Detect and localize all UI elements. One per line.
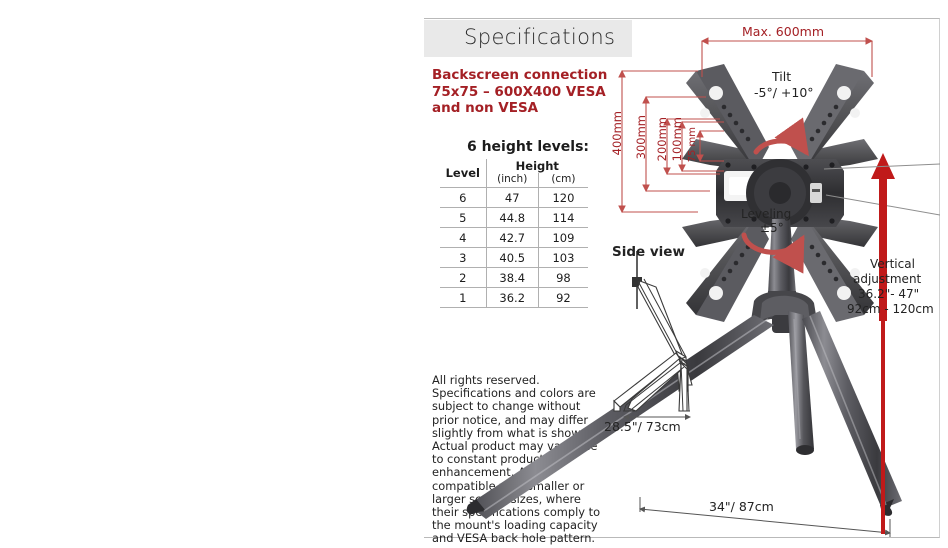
gray-dimension-lines (624, 417, 890, 537)
annotation-vertical-adjustment-inch: 36.2"- 47" (858, 287, 919, 301)
annotation-vesa-400: 400mm (610, 111, 624, 155)
annotation-base-width: 34"/ 87cm (709, 499, 774, 514)
annotation-vertical-adjustment-label2: adjustment (853, 272, 921, 286)
annotation-side-view-width: 28.5"/ 73cm (604, 419, 681, 434)
annotation-tilt-label: Tilt (772, 69, 791, 84)
annotation-vertical-adjustment-label: Vertical (870, 257, 915, 271)
annotation-vesa-75: 75 mm (688, 127, 700, 162)
annotation-vesa-300: 300mm (634, 115, 648, 159)
product-spec-sheet: Specifications Backscreen connection 75x… (0, 0, 948, 548)
product-illustration: Max. 600mm 400mm 300mm 200mm 100mm 75 mm… (424, 19, 940, 539)
side-view-drawing (614, 251, 692, 411)
annotation-vesa-100: 100mm (670, 117, 684, 161)
annotation-vertical-adjustment-cm: 92cm - 120cm (847, 302, 934, 316)
vesa-arm-top-right (791, 64, 878, 171)
annotation-tilt-value: -5°/ +10° (754, 85, 814, 100)
annotation-max-width: Max. 600mm (742, 24, 824, 39)
annotation-leveling-value: ±5° (760, 221, 784, 235)
annotation-leveling-label: Leveling (741, 207, 791, 221)
annotation-vesa-200: 200mm (655, 117, 669, 161)
annotation-side-view: Side view (612, 244, 685, 260)
spec-sheet-body: Specifications Backscreen connection 75x… (424, 18, 940, 538)
